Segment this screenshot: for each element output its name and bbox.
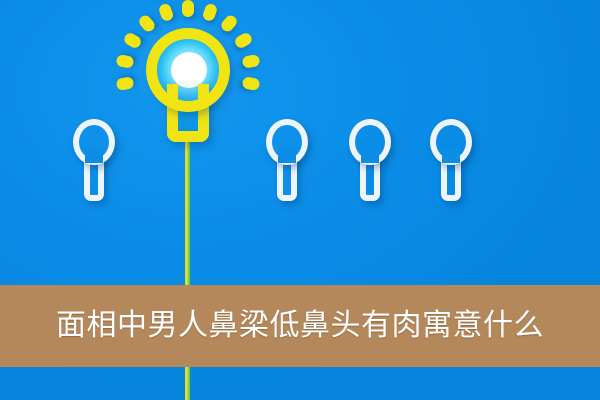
unlit-lightbulb-4	[430, 119, 472, 201]
unlit-lightbulb-1	[73, 119, 115, 201]
unlit-lightbulb-2	[266, 119, 308, 201]
image-canvas: 面相中男人鼻梁低鼻头有肉寓意什么	[0, 0, 600, 400]
unlit-lightbulb-3	[349, 119, 391, 201]
bulb-neck-join-mask	[361, 149, 379, 163]
bulb-neck-join-mask	[278, 149, 296, 163]
bulb-neck-join-mask	[442, 149, 460, 163]
light-ray-6	[182, 0, 194, 17]
lit-lightbulb	[140, 24, 236, 148]
caption-text: 面相中男人鼻梁低鼻头有肉寓意什么	[56, 311, 544, 341]
caption-band: 面相中男人鼻梁低鼻头有肉寓意什么	[0, 285, 600, 367]
bulb-neck-join-mask	[85, 149, 103, 163]
bulb-glass-outline	[146, 28, 230, 112]
bulb-neck-join-mask	[169, 76, 207, 94]
